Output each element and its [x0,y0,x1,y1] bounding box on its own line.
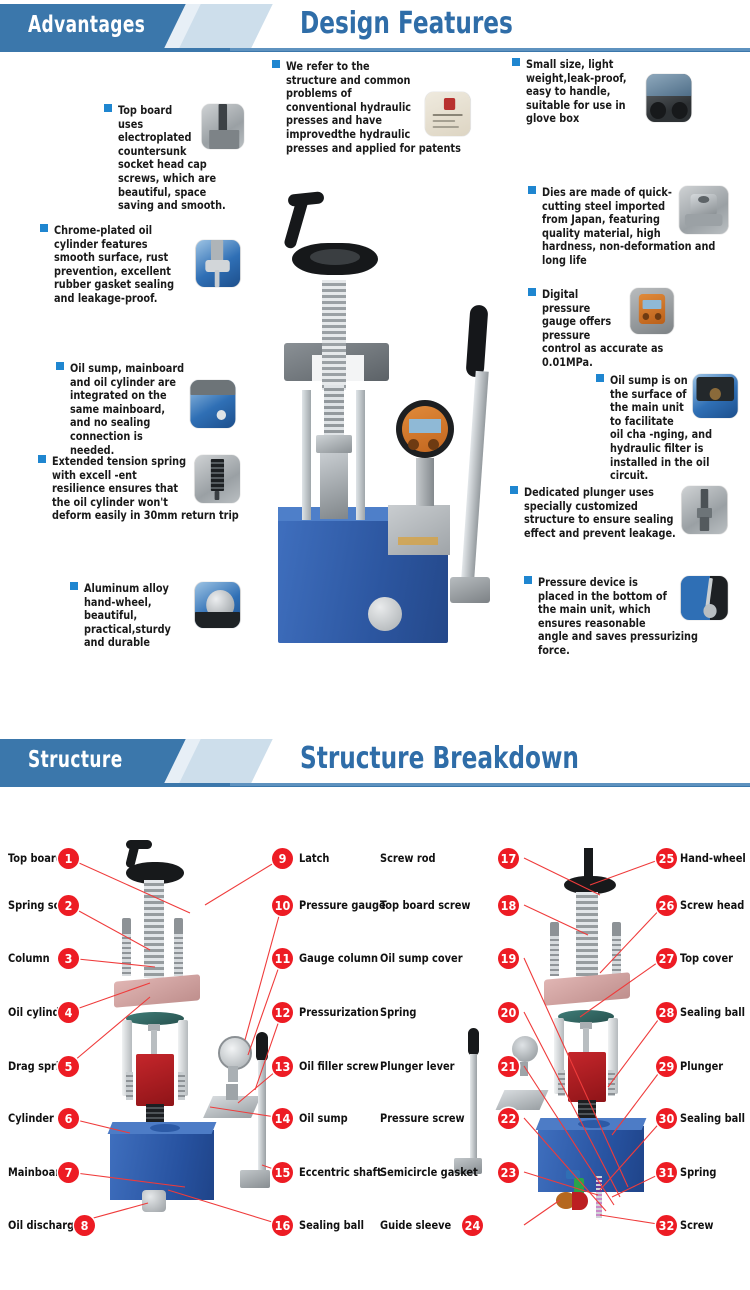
feature-digital-gauge: Digital pressure gauge offers pressure c… [528,288,728,370]
part-badge-6: 6 [58,1108,79,1129]
part-badge-4: 4 [58,1002,79,1023]
part-badge-13: 13 [272,1056,293,1077]
bullet-icon [104,104,112,112]
structure-tab-label: Structure [28,747,123,773]
bullet-icon [272,60,280,68]
feature-chrome-cylinder: Chrome-plated oil cylinder features smoo… [40,224,252,306]
patent-certificate-thumb [425,92,470,136]
part-label-20: Spring [380,1005,416,1019]
part-badge-17: 17 [498,848,519,869]
part-badge-30: 30 [656,1108,677,1129]
feature-text: Oil sump, mainboard and oil cylinder are… [70,361,184,457]
advantages-section: Advantages Design Features [0,0,750,700]
part-label-16: Sealing ball [299,1218,364,1232]
bullet-icon [70,582,78,590]
feature-text: Dedicated plunger uses specially customi… [524,485,676,540]
top-board-screw-thumb [202,104,244,149]
part-label-25: Hand-wheel [680,851,746,865]
part-label-21: Plunger lever [380,1059,455,1073]
part-label-9: Latch [299,851,329,865]
part-badge-10: 10 [272,895,293,916]
part-label-17: Screw rod [380,851,436,865]
feature-oil-sump-integrated: Oil sump, mainboard and oil cylinder are… [56,362,246,457]
feature-top-board: Top board uses electroplated countersunk… [104,104,252,213]
part-label-30: Sealing ball [680,1111,745,1125]
part-badge-26: 26 [656,895,677,916]
part-badge-29: 29 [656,1056,677,1077]
part-badge-22: 22 [498,1108,519,1129]
part-label-26: Screw head [680,898,744,912]
bullet-icon [528,186,536,194]
part-badge-5: 5 [58,1056,79,1077]
part-badge-25: 25 [656,848,677,869]
tension-spring-thumb [195,455,240,503]
feature-oil-sump-surface: Oil sump is on the surface of the main u… [596,374,746,483]
part-badge-11: 11 [272,948,293,969]
part-badge-2: 2 [58,895,79,916]
part-badge-14: 14 [272,1108,293,1129]
die-thumb [679,186,728,234]
hydraulic-press-photo [272,185,522,655]
part-badge-23: 23 [498,1162,519,1183]
design-features-title: Design Features [300,6,513,41]
hand-wheel-thumb [195,582,240,628]
part-label-10: Pressure gauge [299,898,386,912]
part-label-11: Gauge column [299,951,378,965]
part-label-22: Pressure screw [380,1111,465,1125]
part-badge-9: 9 [272,848,293,869]
bullet-icon [528,288,536,296]
bullet-icon [510,486,518,494]
part-badge-3: 3 [58,948,79,969]
part-label-27: Top cover [680,951,733,965]
part-label-29: Plunger [680,1059,723,1073]
pressure-device-thumb [681,576,728,620]
digital-gauge-thumb [630,288,673,334]
advantages-tab-label: Advantages [28,12,145,38]
glove-box-thumb [646,74,691,122]
feature-patents: We refer to the structure and common pro… [272,60,482,155]
bullet-icon [56,362,64,370]
part-label-12: Pressurization [299,1005,379,1019]
oil-sump-thumb [693,374,738,418]
part-label-32: Screw [680,1218,714,1232]
feature-text: Aluminum alloy hand-wheel, beautiful, pr… [84,581,171,649]
part-badge-19: 19 [498,948,519,969]
structure-section: Structure Structure Breakdown [0,735,750,1290]
bullet-icon [38,455,46,463]
part-label-8: Oil discharge [8,1218,81,1232]
feature-text: Pressure device is placed in the bottom … [538,575,698,657]
part-label-19: Oil sump cover [380,951,463,965]
feature-text: Small size, light weight,leak-proof, eas… [526,57,627,125]
part-label-23: Semicircle gasket [380,1165,478,1179]
part-label-6: Cylinder [8,1111,54,1125]
part-badge-18: 18 [498,895,519,916]
part-badge-15: 15 [272,1162,293,1183]
part-label-1: Top board [8,851,63,865]
part-label-31: Spring [680,1165,716,1179]
feature-dedicated-plunger: Dedicated plunger uses specially customi… [510,486,740,540]
part-label-18: Top board screw [380,898,470,912]
feature-text: Chrome-plated oil cylinder features smoo… [54,223,174,305]
plunger-thumb [682,486,727,534]
part-label-15: Eccentric shaft [299,1165,382,1179]
part-label-14: Oil sump [299,1111,348,1125]
part-badge-27: 27 [656,948,677,969]
part-badge-20: 20 [498,1002,519,1023]
part-badge-12: 12 [272,1002,293,1023]
feature-small-size: Small size, light weight,leak-proof, eas… [512,58,702,126]
mainboard-thumb [190,380,235,428]
part-badge-21: 21 [498,1056,519,1077]
part-badge-32: 32 [656,1215,677,1236]
part-label-3: Column [8,951,50,965]
bullet-icon [524,576,532,584]
bullet-icon [596,374,604,382]
oil-cylinder-thumb [196,240,240,287]
bullet-icon [40,224,48,232]
part-badge-1: 1 [58,848,79,869]
part-label-28: Sealing ball [680,1005,745,1019]
feature-tension-spring: Extended tension spring with excell -ent… [38,455,252,523]
part-badge-7: 7 [58,1162,79,1183]
banner-rule-light [230,48,750,51]
part-badge-16: 16 [272,1215,293,1236]
part-label-13: Oil filler screw [299,1059,379,1073]
structure-breakdown-title: Structure Breakdown [300,741,579,776]
feature-dies: Dies are made of quick-cutting steel imp… [528,186,740,268]
part-label-24: Guide sleeve [380,1218,451,1232]
part-badge-8: 8 [74,1215,95,1236]
feature-hand-wheel: Aluminum alloy hand-wheel, beautiful, pr… [70,582,250,650]
part-badge-24: 24 [462,1215,483,1236]
part-badge-28: 28 [656,1002,677,1023]
advantages-banner: Advantages Design Features [0,0,750,52]
bullet-icon [512,58,520,66]
part-badge-31: 31 [656,1162,677,1183]
feature-pressure-device: Pressure device is placed in the bottom … [524,576,740,658]
